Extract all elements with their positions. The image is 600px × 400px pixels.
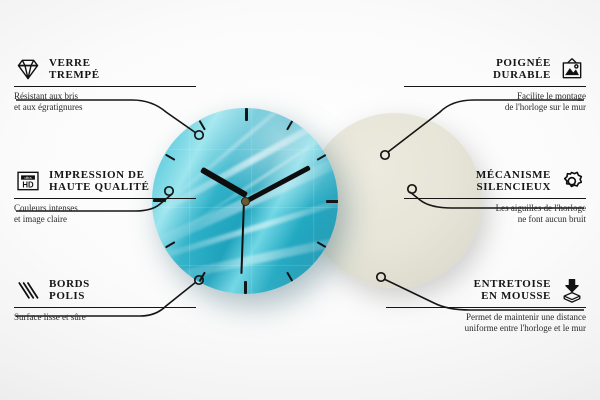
wall-mount-icon	[558, 56, 586, 82]
callout-desc-line2: et aux égratignures	[14, 102, 196, 113]
callout-title-line1: BORDS	[49, 278, 90, 290]
diamond-icon	[14, 56, 42, 82]
callout-title-line1: VERRE	[49, 57, 100, 69]
callout-rule	[14, 307, 196, 308]
callout-rule	[404, 86, 586, 87]
callout-title: POIGNÉE DURABLE	[493, 57, 551, 82]
callout-desc-line1: Les aiguilles de l'horloge	[404, 203, 586, 214]
callout-title-line2: DURABLE	[493, 69, 551, 81]
foam-spacer-icon	[558, 277, 586, 303]
callout-title-line2: EN MOUSSE	[474, 290, 551, 302]
callout-description: Résistant aux bris et aux égratignures	[14, 91, 196, 112]
callout-header: ultra HD IMPRESSION DE HAUTE QUALITÉ	[14, 168, 196, 194]
callout-mecanisme-silencieux[interactable]: MÉCANISME SILENCIEUX Les aiguilles de l'…	[404, 168, 586, 225]
callout-header: POIGNÉE DURABLE	[404, 56, 586, 82]
callout-verre-trempe[interactable]: VERRE TREMPÉ Résistant aux bris et aux é…	[14, 56, 196, 113]
callout-desc-line2: de l'horloge sur le mur	[404, 102, 586, 113]
callout-desc-line1: Facilite le montage	[404, 91, 586, 102]
callout-description: Les aiguilles de l'horloge ne font aucun…	[404, 203, 586, 224]
callout-description: Facilite le montage de l'horloge sur le …	[404, 91, 586, 112]
callout-entretoise-mousse[interactable]: ENTRETOISE EN MOUSSE Permet de maintenir…	[386, 277, 586, 334]
callout-title-line1: MÉCANISME	[476, 169, 551, 181]
callout-header: VERRE TREMPÉ	[14, 56, 196, 82]
callout-impression[interactable]: ultra HD IMPRESSION DE HAUTE QUALITÉ Cou…	[14, 168, 196, 225]
callout-title-line2: SILENCIEUX	[476, 181, 551, 193]
polished-edges-icon	[14, 277, 42, 303]
gear-icon	[558, 168, 586, 194]
callout-title: IMPRESSION DE HAUTE QUALITÉ	[49, 169, 149, 194]
infographic-canvas: VERRE TREMPÉ Résistant aux bris et aux é…	[0, 0, 600, 400]
hand-center-cap	[242, 198, 249, 205]
callout-desc-line1: Permet de maintenir une distance	[386, 312, 586, 323]
callout-header: BORDS POLIS	[14, 277, 196, 303]
callout-poignee-durable[interactable]: POIGNÉE DURABLE Facilite le montage de l…	[404, 56, 586, 113]
callout-title: VERRE TREMPÉ	[49, 57, 100, 82]
callout-desc-line2: uniforme entre l'horloge et le mur	[386, 323, 586, 334]
callout-desc-line1: Couleurs intenses	[14, 203, 196, 214]
callout-rule	[14, 198, 196, 199]
callout-title-line2: POLIS	[49, 290, 90, 302]
callout-rule	[404, 198, 586, 199]
callout-rule	[14, 86, 196, 87]
callout-title: MÉCANISME SILENCIEUX	[476, 169, 551, 194]
hour-tick	[245, 201, 247, 294]
ultra-hd-icon: ultra HD	[14, 168, 42, 194]
callout-title: ENTRETOISE EN MOUSSE	[474, 278, 551, 303]
callout-title-line1: IMPRESSION DE	[49, 169, 149, 181]
callout-rule	[386, 307, 586, 308]
callout-title: BORDS POLIS	[49, 278, 90, 303]
callout-desc-line1: Résistant aux bris	[14, 91, 196, 102]
hour-tick	[246, 200, 338, 202]
callout-header: ENTRETOISE EN MOUSSE	[386, 277, 586, 303]
hour-tick	[245, 108, 247, 201]
callout-description: Couleurs intenses et image claire	[14, 203, 196, 224]
svg-text:HD: HD	[22, 180, 34, 189]
callout-bords-polis[interactable]: BORDS POLIS Surface lisse et sûre	[14, 277, 196, 323]
callout-description: Permet de maintenir une distance uniform…	[386, 312, 586, 333]
callout-title-line1: POIGNÉE	[493, 57, 551, 69]
callout-title-line2: HAUTE QUALITÉ	[49, 181, 149, 193]
callout-title-line1: ENTRETOISE	[474, 278, 551, 290]
callout-title-line2: TREMPÉ	[49, 69, 100, 81]
callout-desc-line2: ne font aucun bruit	[404, 214, 586, 225]
callout-desc-line1: Surface lisse et sûre	[14, 312, 196, 323]
callout-description: Surface lisse et sûre	[14, 312, 196, 323]
callout-desc-line2: et image claire	[14, 214, 196, 225]
callout-header: MÉCANISME SILENCIEUX	[404, 168, 586, 194]
